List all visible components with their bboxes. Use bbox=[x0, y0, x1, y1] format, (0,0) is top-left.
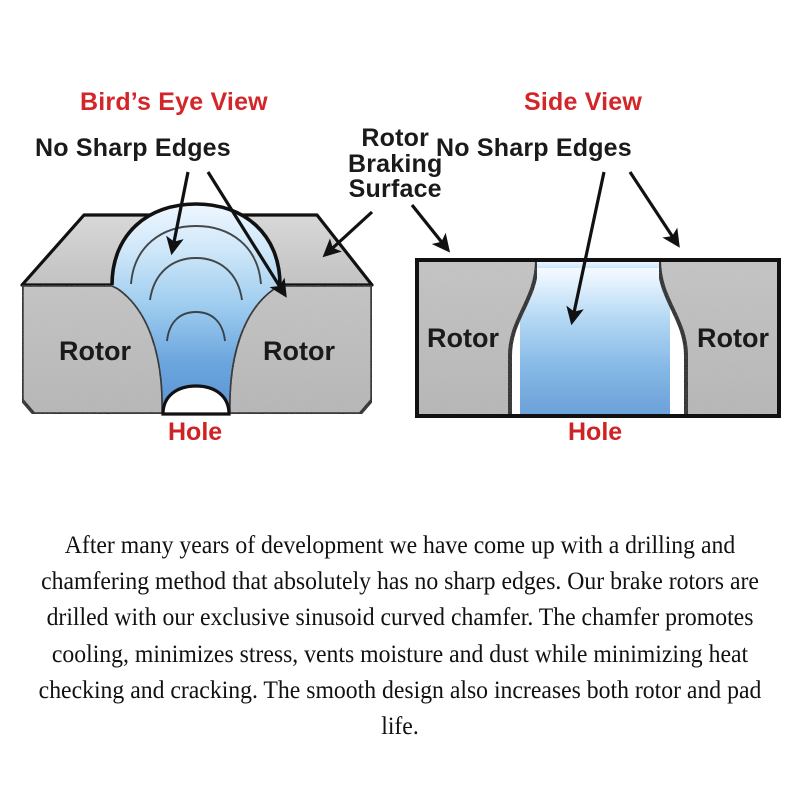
label-hole-bird: Hole bbox=[168, 418, 222, 447]
heading-birds-eye-view: Bird’s Eye View bbox=[80, 88, 268, 117]
rotor-label-side-right: Rotor bbox=[697, 323, 769, 353]
arrow-rotor-braking-surface-right bbox=[412, 205, 448, 250]
hole-channel-side bbox=[520, 258, 670, 418]
rotor-label-bird-right: Rotor bbox=[263, 336, 335, 366]
rotor-label-bird-left: Rotor bbox=[59, 336, 131, 366]
rotor-chamfer-infographic: Rotor Rotor bbox=[0, 0, 800, 800]
birds-eye-diagram: Rotor Rotor bbox=[22, 172, 372, 414]
rotor-label-side-left: Rotor bbox=[427, 323, 499, 353]
label-rotor-braking-line-1: Rotor bbox=[348, 126, 442, 152]
label-no-sharp-edges-left: No Sharp Edges bbox=[35, 136, 231, 162]
description-paragraph: After many years of development we have … bbox=[35, 527, 764, 744]
side-view-diagram: Rotor Rotor bbox=[412, 172, 779, 418]
arrow-no-sharp-edges-right-b bbox=[630, 172, 678, 245]
label-no-sharp-edges-right: No Sharp Edges bbox=[436, 136, 632, 162]
label-rotor-braking-line-3: Surface bbox=[348, 177, 442, 203]
label-hole-side: Hole bbox=[568, 418, 622, 447]
heading-side-view: Side View bbox=[524, 88, 642, 117]
label-rotor-braking-surface: Rotor Braking Surface bbox=[348, 126, 442, 203]
label-rotor-braking-line-2: Braking bbox=[348, 152, 442, 178]
